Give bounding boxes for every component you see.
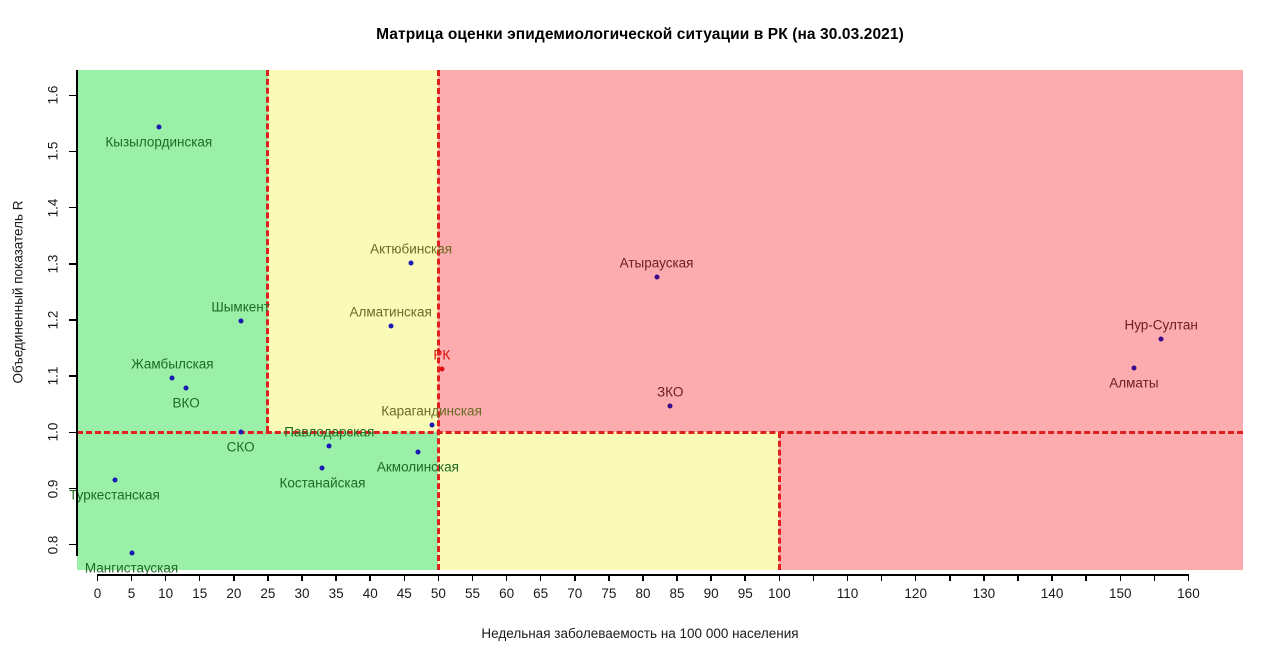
data-point[interactable]	[654, 274, 659, 279]
y-axis-tick-label: 0.9	[46, 479, 61, 498]
data-point-label: Туркестанская	[69, 487, 160, 502]
x-axis-tick-label: 40	[363, 586, 378, 601]
x-axis-tick-label: 90	[704, 586, 719, 601]
x-axis-tick	[369, 574, 371, 581]
x-axis-tick-label: 160	[1177, 586, 1200, 601]
data-point-label: Карагандинская	[381, 404, 482, 419]
x-axis-tick-label: 95	[738, 586, 753, 601]
x-axis-tick-label: 20	[226, 586, 241, 601]
plot-area: КызылординскаяШымкентЖамбылскаяВКОСКОТур…	[77, 70, 1243, 570]
x-axis-tick-label: 10	[158, 586, 173, 601]
y-axis-tick	[69, 488, 76, 490]
data-point[interactable]	[439, 366, 444, 371]
data-point[interactable]	[1131, 366, 1136, 371]
data-point-label: Алматы	[1109, 376, 1158, 391]
y-axis-tick-label: 1.6	[46, 86, 61, 105]
y-axis-tick-label: 1.5	[46, 142, 61, 161]
y-axis-tick-label: 1.0	[46, 423, 61, 442]
x-axis-tick	[915, 574, 917, 581]
x-axis-tick-label: 110	[837, 586, 859, 601]
x-axis-tick	[301, 574, 303, 581]
y-axis-tick-label: 0.8	[46, 535, 61, 554]
x-axis-tick	[438, 574, 440, 581]
x-axis-tick-label: 50	[431, 586, 446, 601]
data-point[interactable]	[327, 444, 332, 449]
chart-title: Матрица оценки эпидемиологической ситуац…	[0, 26, 1280, 44]
data-point-label: Кызылординская	[105, 135, 212, 150]
y-axis-tick	[69, 319, 76, 321]
x-axis-tick-label: 80	[635, 586, 650, 601]
x-axis-tick	[983, 574, 985, 581]
x-axis-tick	[506, 574, 508, 581]
data-point[interactable]	[184, 385, 189, 390]
y-axis-tick-label: 1.3	[46, 254, 61, 273]
y-axis-tick	[69, 544, 76, 546]
data-point[interactable]	[170, 376, 175, 381]
data-point-label: Алматинская	[349, 305, 431, 320]
x-axis-tick	[97, 574, 99, 581]
x-axis-tick	[267, 574, 269, 581]
x-axis-tick	[199, 574, 201, 581]
x-axis-tick	[813, 574, 815, 581]
y-axis-tick	[69, 375, 76, 377]
data-point-label: Павлодарская	[284, 425, 374, 440]
threshold-line-vertical-100	[778, 432, 781, 570]
x-axis-tick	[608, 574, 610, 581]
x-axis-tick	[1085, 574, 1087, 581]
y-axis-title: Объединенный показатель R	[11, 200, 26, 383]
x-axis-tick	[233, 574, 235, 581]
x-axis-tick	[676, 574, 678, 581]
data-point[interactable]	[388, 324, 393, 329]
x-axis-tick	[131, 574, 133, 581]
y-axis-tick-label: 1.4	[46, 198, 61, 217]
x-axis-tick-label: 45	[397, 586, 412, 601]
y-axis-tick-label: 1.2	[46, 311, 61, 330]
threshold-line-vertical-50	[437, 70, 440, 570]
data-point-label: Шымкент	[211, 299, 270, 314]
data-point-label: Жамбылская	[131, 357, 213, 372]
data-point[interactable]	[429, 423, 434, 428]
region-red-zone-lower-right	[779, 432, 1243, 570]
data-point[interactable]	[668, 403, 673, 408]
x-axis-tick	[1154, 574, 1156, 581]
x-axis-tick-label: 130	[973, 586, 996, 601]
x-axis-tick	[642, 574, 644, 581]
threshold-line-horizontal	[77, 431, 1243, 434]
data-point[interactable]	[156, 125, 161, 130]
y-axis-tick	[69, 432, 76, 434]
x-axis-tick	[847, 574, 849, 581]
x-axis-tick	[779, 574, 781, 581]
x-axis-tick	[472, 574, 474, 581]
x-axis-tick-label: 75	[601, 586, 616, 601]
x-axis-tick	[1017, 574, 1019, 581]
x-axis-tick-label: 120	[904, 586, 927, 601]
x-axis-tick-label: 100	[768, 586, 791, 601]
x-axis-tick-label: 5	[128, 586, 136, 601]
data-point[interactable]	[1159, 337, 1164, 342]
y-axis-line	[76, 70, 78, 556]
x-axis-tick	[949, 574, 951, 581]
data-point-label: Костанайская	[280, 476, 366, 491]
x-axis-tick	[710, 574, 712, 581]
x-axis-tick	[335, 574, 337, 581]
data-point[interactable]	[415, 450, 420, 455]
chart-root: Матрица оценки эпидемиологической ситуац…	[0, 0, 1280, 660]
y-axis-tick	[69, 151, 76, 153]
x-axis-tick	[574, 574, 576, 581]
data-point[interactable]	[238, 318, 243, 323]
data-point[interactable]	[320, 466, 325, 471]
x-axis-tick-label: 0	[94, 586, 102, 601]
data-point-label: ЗКО	[657, 384, 683, 399]
data-point-label: Нур-Султан	[1124, 318, 1197, 333]
data-point-label: СКО	[227, 440, 255, 455]
x-axis-title: Недельная заболеваемость на 100 000 насе…	[0, 626, 1280, 641]
data-point[interactable]	[112, 477, 117, 482]
data-point-label: Актюбинская	[370, 242, 452, 257]
x-axis-tick	[404, 574, 406, 581]
x-axis-tick-label: 140	[1041, 586, 1064, 601]
x-axis-tick-label: 70	[567, 586, 582, 601]
y-axis-tick-label: 1.1	[46, 367, 61, 386]
y-axis-tick	[69, 95, 76, 97]
data-point-label: Атырауская	[620, 255, 694, 270]
x-axis-tick	[881, 574, 883, 581]
region-yellow-zone-lower	[438, 432, 779, 570]
x-axis-tick	[165, 574, 167, 581]
x-axis-tick-label: 60	[499, 586, 514, 601]
region-green-zone-mid-lower	[268, 432, 438, 570]
data-point-label: Мангистауская	[85, 560, 178, 575]
x-axis-tick-label: 25	[260, 586, 275, 601]
x-axis-tick-label: 150	[1109, 586, 1132, 601]
x-axis-tick	[1188, 574, 1190, 581]
data-point[interactable]	[238, 430, 243, 435]
x-axis-tick-label: 65	[533, 586, 548, 601]
y-axis-tick	[69, 207, 76, 209]
x-axis-tick	[540, 574, 542, 581]
data-point-label: Акмолинская	[377, 460, 459, 475]
data-point[interactable]	[409, 261, 414, 266]
y-axis-tick	[69, 263, 76, 265]
x-axis-tick	[1051, 574, 1053, 581]
threshold-line-vertical-25	[266, 70, 269, 432]
x-axis-tick-label: 85	[670, 586, 685, 601]
data-point-label: РК	[433, 347, 450, 362]
x-axis-tick-label: 55	[465, 586, 480, 601]
data-point-label: ВКО	[172, 395, 199, 410]
x-axis-tick-label: 15	[192, 586, 207, 601]
x-axis-tick-label: 30	[295, 586, 310, 601]
data-point[interactable]	[129, 550, 134, 555]
x-axis-tick	[1120, 574, 1122, 581]
x-axis-tick	[744, 574, 746, 581]
x-axis-tick-label: 35	[329, 586, 344, 601]
